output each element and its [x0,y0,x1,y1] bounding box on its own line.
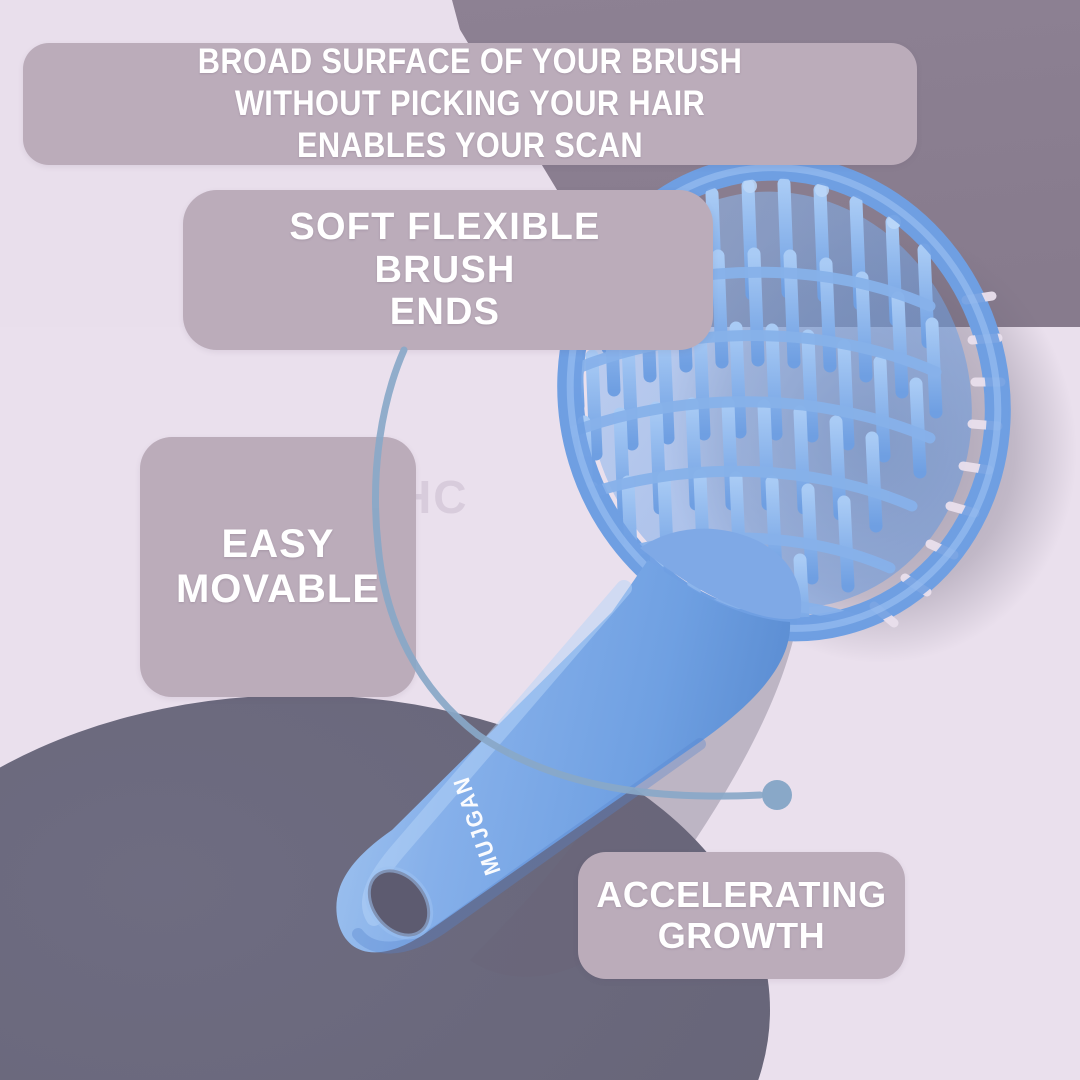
connector-curve-upper [376,350,404,545]
infographic-canvas: HC [0,0,1080,1080]
connector-curve-left [378,545,478,735]
connector-endpoint-dot [762,780,792,810]
connector-lines [0,0,1080,1080]
connector-curve-lower [478,735,760,796]
